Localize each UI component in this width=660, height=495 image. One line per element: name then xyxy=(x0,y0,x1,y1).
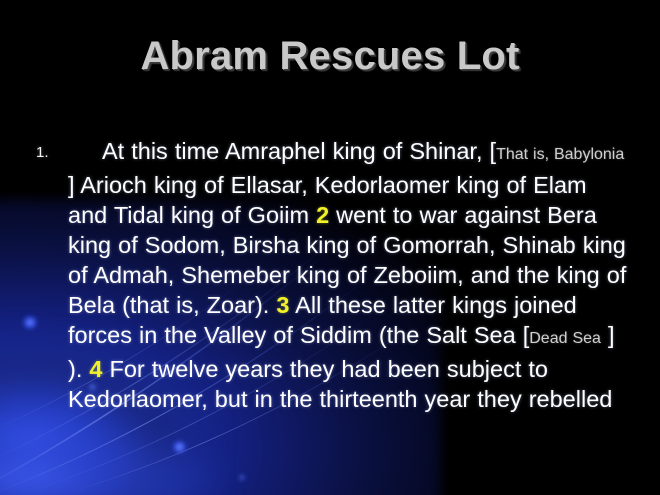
glow-dot xyxy=(172,441,187,453)
scripture-paragraph: At this time Amraphel king of Shinar, [T… xyxy=(68,136,632,414)
text-segment: At this time Amraphel king of Shinar, [ xyxy=(102,138,496,164)
verse-number-3: 3 xyxy=(276,292,289,318)
list-number: 1. xyxy=(36,144,49,161)
glow-dot xyxy=(238,474,246,481)
text-segment: For twelve years they had been subject t… xyxy=(68,356,612,412)
footnote-dead-sea: Dead Sea xyxy=(529,330,601,347)
verse-number-4: 4 xyxy=(89,356,102,382)
list-item: 1. At this time Amraphel king of Shinar,… xyxy=(36,136,632,414)
verse-number-2: 2 xyxy=(316,202,329,228)
presentation-slide: Abram Rescues Lot 1. At this time Amraph… xyxy=(0,0,660,495)
slide-body: 1. At this time Amraphel king of Shinar,… xyxy=(36,112,632,437)
slide-title: Abram Rescues Lot xyxy=(0,34,660,79)
footnote-babylonia: That is, Babylonia xyxy=(496,146,624,163)
